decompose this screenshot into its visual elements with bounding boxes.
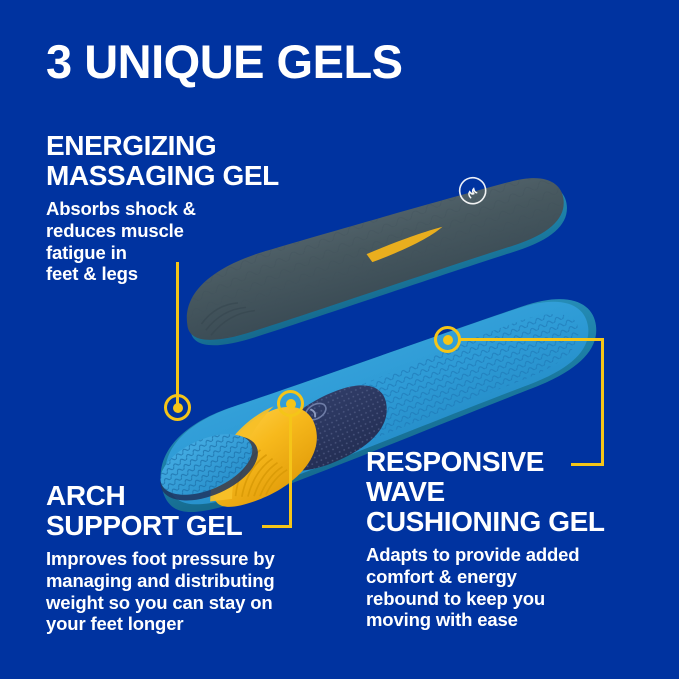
feature-heading-responsive: RESPONSIVE WAVE CUSHIONING GEL	[366, 447, 605, 537]
leader-line-responsive-top	[460, 338, 604, 341]
feature-heading-energizing: ENERGIZING MASSAGING GEL	[46, 131, 279, 191]
forefoot-gel-marker	[434, 326, 461, 353]
feature-block-energizing: ENERGIZING MASSAGING GEL Absorbs shock &…	[46, 131, 279, 285]
feature-body-energizing: Absorbs shock & reduces muscle fatigue i…	[46, 198, 279, 285]
feature-block-arch: ARCH SUPPORT GEL Improves foot pressure …	[46, 481, 275, 635]
feature-body-responsive: Adapts to provide added comfort & energy…	[366, 544, 605, 631]
feature-heading-arch: ARCH SUPPORT GEL	[46, 481, 275, 541]
heel-gel-marker	[164, 394, 191, 421]
leader-line-arch-vertical	[289, 415, 292, 528]
feature-block-responsive: RESPONSIVE WAVE CUSHIONING GEL Adapts to…	[366, 447, 605, 631]
infographic-canvas: 3 UNIQUE GELS ENERGIZING MASSAGING GEL A…	[0, 0, 679, 679]
page-title: 3 UNIQUE GELS	[46, 38, 403, 86]
arch-gel-marker	[277, 390, 304, 417]
feature-body-arch: Improves foot pressure by managing and d…	[46, 548, 275, 635]
